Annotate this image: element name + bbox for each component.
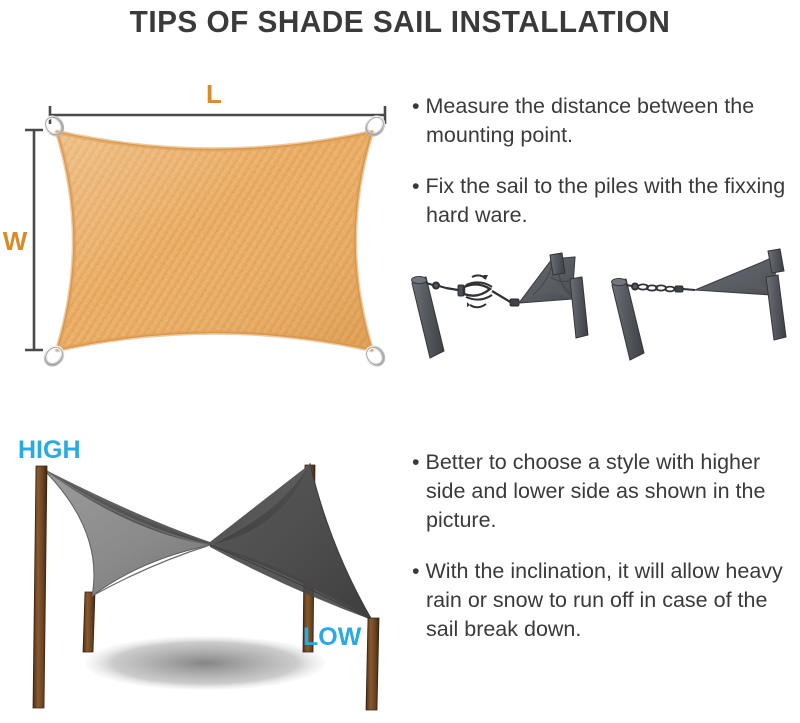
hardware-diagram-turnbuckle	[412, 253, 589, 358]
page-title: TIPS OF SHADE SAIL INSTALLATION	[16, 4, 784, 40]
chain-links	[638, 284, 675, 291]
hypar-shade-sail	[42, 464, 372, 620]
sail-dimensions-diagram: L W	[0, 75, 410, 375]
width-dimension	[25, 130, 43, 350]
shackle-right	[675, 286, 683, 292]
post-front-left-high	[33, 466, 47, 708]
low-label: LOW	[303, 623, 362, 651]
mounting-post-left-2	[612, 278, 645, 360]
hardware-diagram-chain	[612, 249, 787, 360]
width-label: W	[3, 226, 28, 256]
turnbuckle	[446, 275, 492, 307]
post-back-left	[83, 592, 95, 652]
rectangular-shade-sail	[57, 132, 372, 350]
tip-item: • Fix the sail to the piles with the fix…	[412, 172, 800, 230]
length-label: L	[206, 79, 222, 109]
post-front-right-low	[366, 618, 379, 710]
tips-top-list: • Measure the distance between the mount…	[412, 92, 800, 242]
high-label: HIGH	[18, 436, 81, 464]
mounting-post-left	[412, 276, 445, 358]
hardware-diagrams	[400, 243, 800, 378]
sail-panel-left	[42, 468, 210, 596]
shackle-left	[510, 299, 519, 306]
sail-installation-diagram: HIGH LOW	[0, 420, 410, 720]
tip-item: • Measure the distance between the mount…	[412, 92, 800, 150]
tip-item: • With the inclination, it will allow he…	[412, 557, 800, 644]
ground-shadow	[85, 636, 325, 690]
tips-bottom-list: • Better to choose a style with higher s…	[412, 448, 800, 673]
tip-item: • Better to choose a style with higher s…	[412, 448, 800, 535]
